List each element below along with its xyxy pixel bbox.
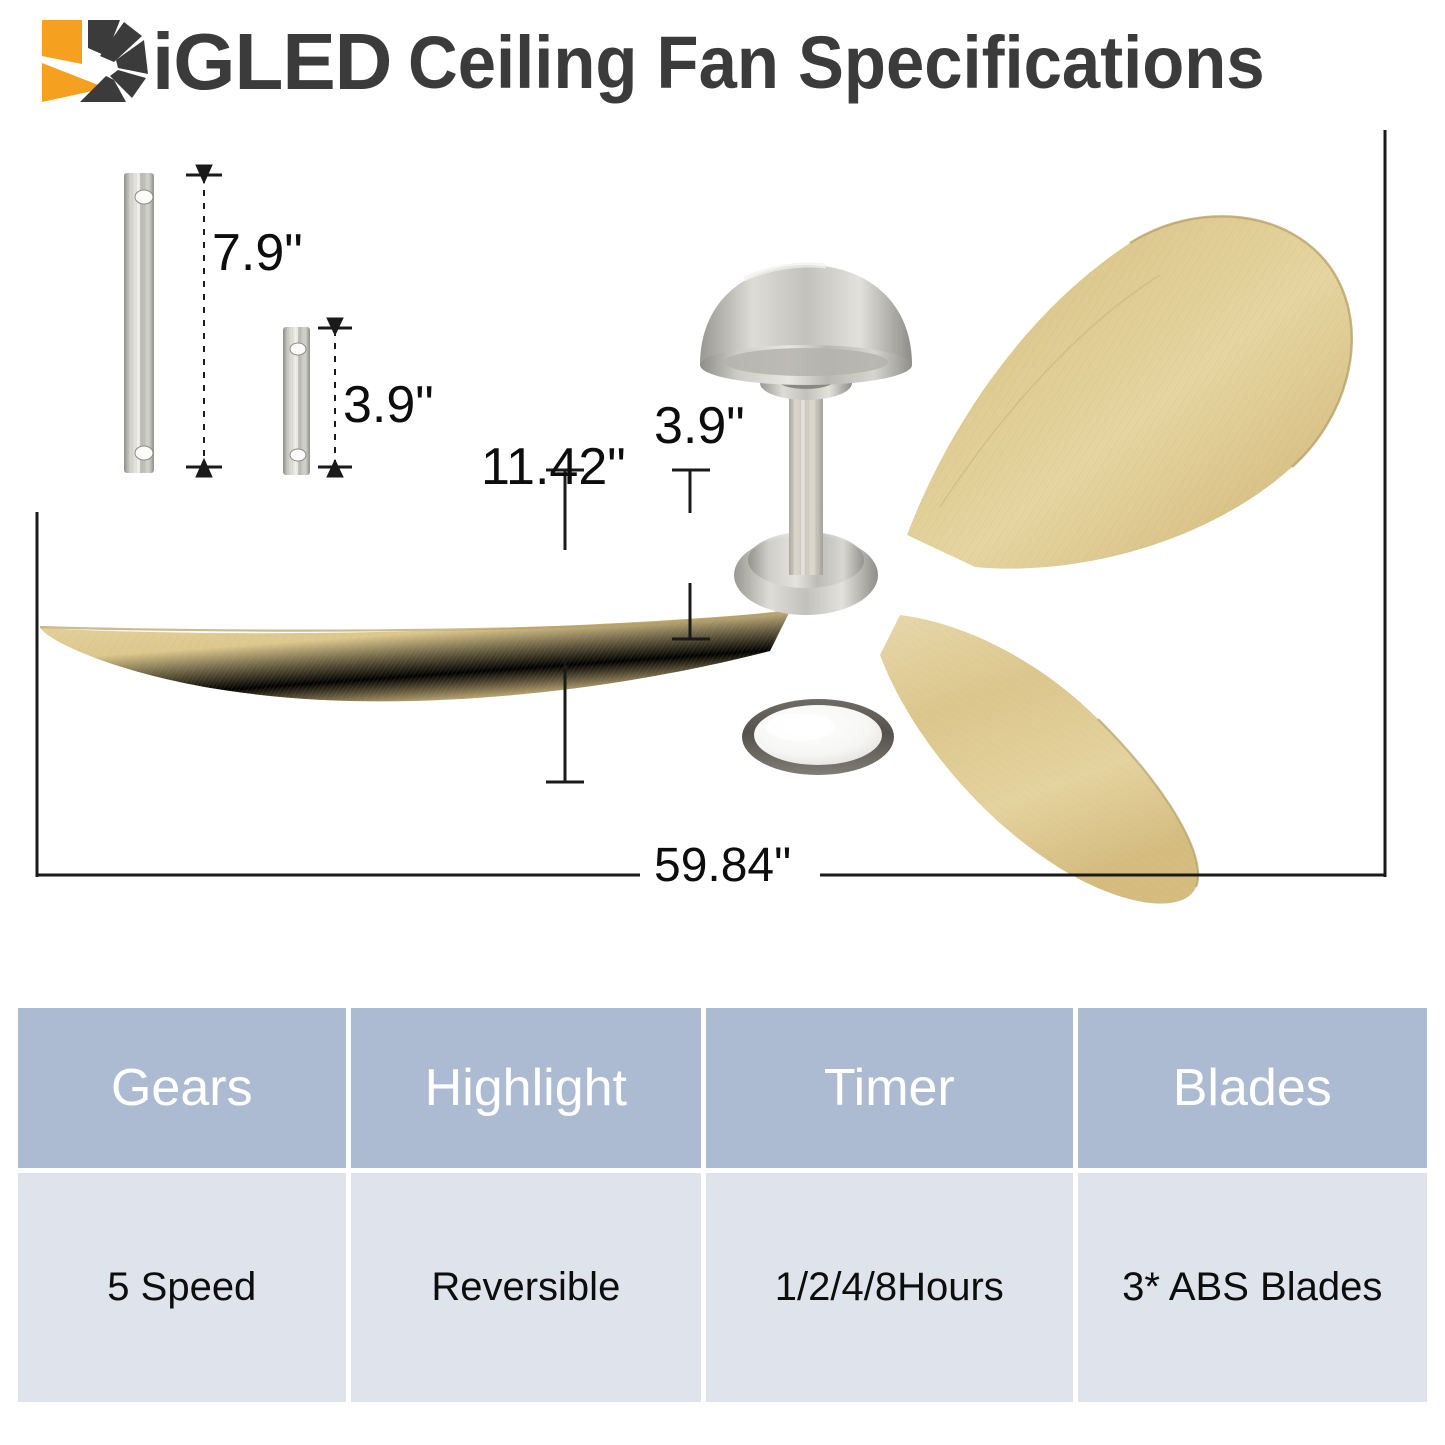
table-header-timer: Timer — [706, 1008, 1072, 1168]
ceiling-fan-illustration — [40, 216, 1352, 903]
table-header-gears: Gears — [18, 1008, 346, 1168]
table-value-highlight: Reversible — [351, 1173, 701, 1402]
specification-sheet: iGLED Ceiling Fan Specifications — [0, 0, 1445, 1445]
specification-table: Gears Highlight Timer Blades 5 Speed Rev… — [18, 1008, 1427, 1402]
table-header-row: Gears Highlight Timer Blades — [18, 1008, 1427, 1168]
table-value-blades: 3* ABS Blades — [1078, 1173, 1428, 1402]
dimension-line-downrod-long — [186, 165, 222, 477]
dimension-label-blade-span: 59.84" — [654, 838, 791, 893]
dimension-line-canopy-drop — [672, 470, 710, 639]
table-value-gears: 5 Speed — [18, 1173, 346, 1402]
dimension-label-downrod-long: 7.9" — [212, 223, 303, 283]
table-header-highlight: Highlight — [351, 1008, 701, 1168]
table-header-blades: Blades — [1078, 1008, 1428, 1168]
dimension-label-canopy-drop: 3.9" — [654, 396, 745, 456]
downrod-long-illustration — [124, 173, 154, 473]
aperture-logo-icon — [36, 16, 158, 106]
downrod-short-illustration — [283, 327, 310, 475]
table-value-timer: 1/2/4/8Hours — [706, 1173, 1072, 1402]
page-title: Ceiling Fan Specifications — [408, 20, 1265, 106]
table-value-row: 5 Speed Reversible 1/2/4/8Hours 3* ABS B… — [18, 1173, 1427, 1402]
brand-wordmark: iGLED — [152, 20, 391, 104]
page-header: iGLED Ceiling Fan Specifications — [0, 0, 1445, 120]
dimension-label-downrod-short: 3.9" — [343, 375, 434, 435]
dimension-label-total-height: 11.42" — [481, 437, 626, 497]
